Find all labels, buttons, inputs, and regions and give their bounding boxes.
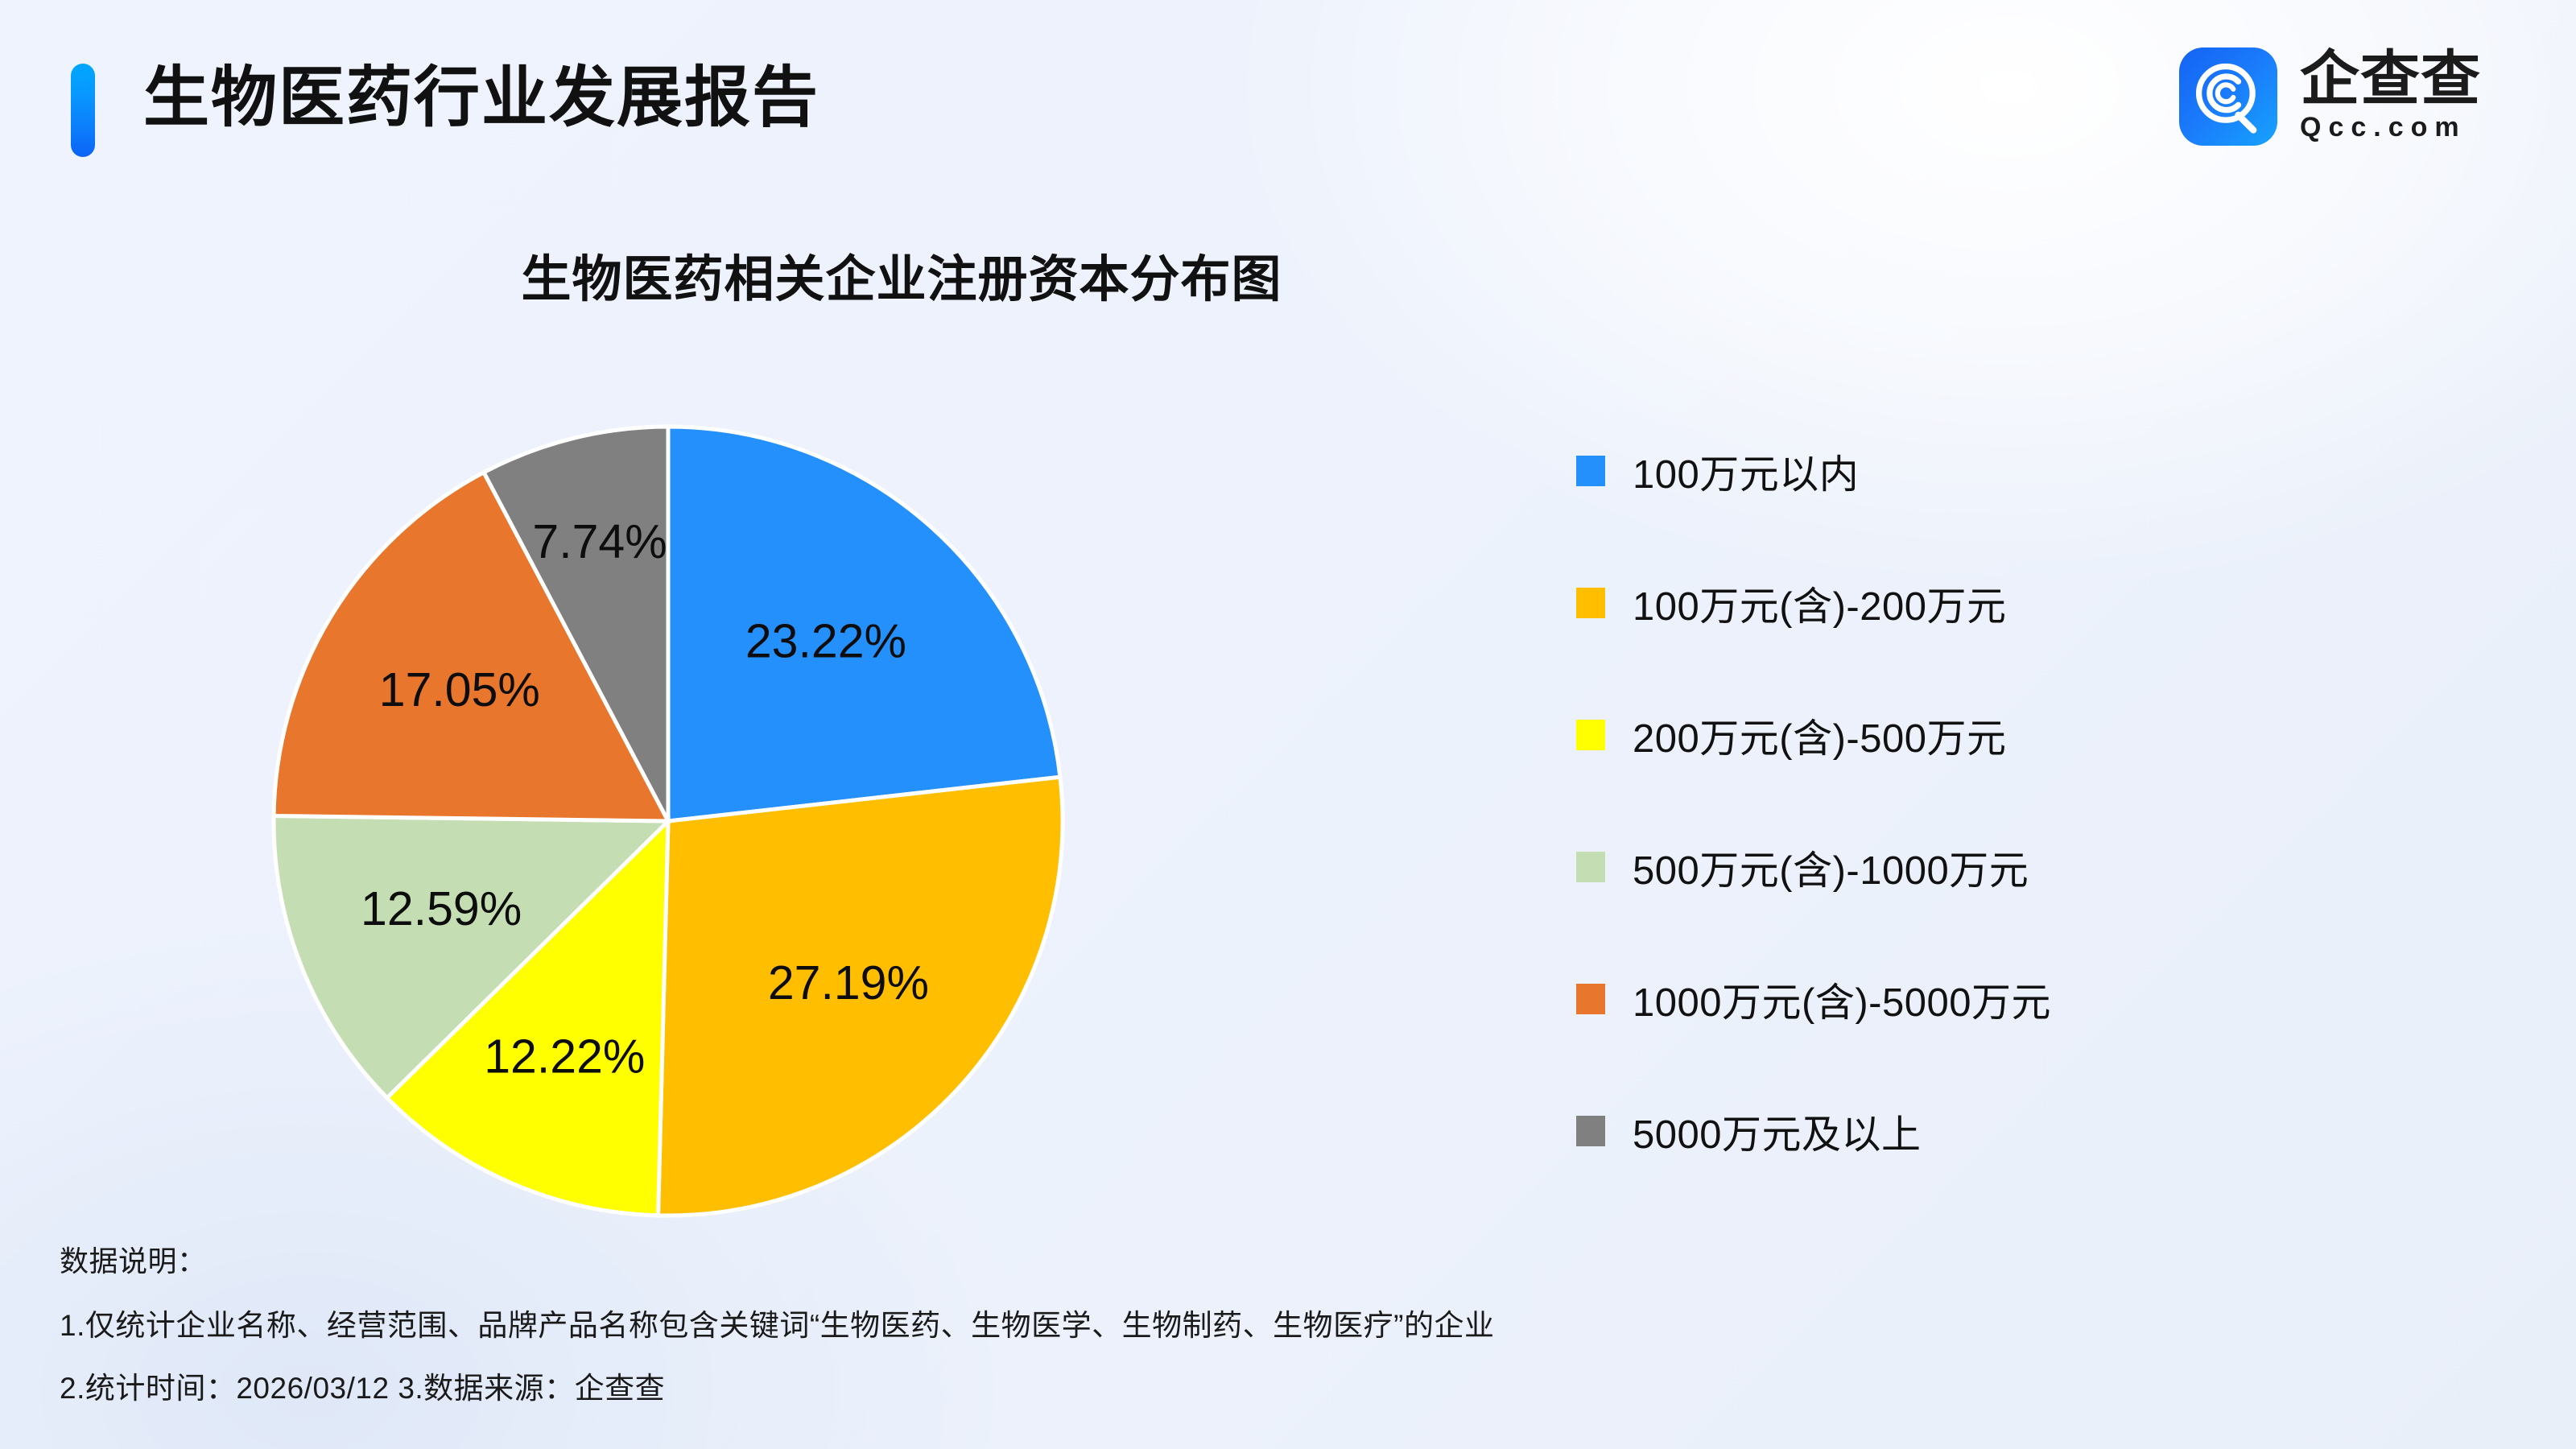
legend-item-label: 100万元(含)-200万元 [1633,575,2006,632]
chart-title: 生物医药相关企业注册资本分布图 [0,238,1803,311]
logo-name-cn: 企查查 [2300,50,2481,107]
legend-color-swatch [1576,984,1605,1014]
chart-legend: 100万元以内100万元(含)-200万元200万元(含)-500万元500万元… [1576,438,2381,1230]
legend-color-swatch [1576,852,1605,882]
note-line-2: 2.统计时间：2026/03/12 3.数据来源：企查查 [60,1364,2153,1407]
pie-slice-label: 7.74% [532,515,667,568]
logo-wordmark: 企查查 Qcc.com [2300,50,2481,143]
header: 生物医药行业发展报告 企查查 Qcc.com [0,0,2576,185]
legend-color-swatch [1576,1116,1605,1146]
infographic-page: 生物医药行业发展报告 企查查 Qcc.com 生物医药相关企业注册资本分布图 2… [0,0,2576,1449]
logo-name-en: Qcc.com [2300,112,2481,143]
notes-heading: 数据说明： [60,1238,2153,1280]
pie-slice-label: 12.22% [484,1030,645,1083]
legend-item[interactable]: 100万元(含)-200万元 [1576,570,2381,636]
legend-item[interactable]: 5000万元及以上 [1576,1098,2381,1164]
data-notes: 数据说明： 1.仅统计企业名称、经营范围、品牌产品名称包含关键词“生物医药、生物… [60,1238,2153,1407]
legend-color-swatch [1576,588,1605,618]
pie-slice-label: 23.22% [745,614,906,667]
pie-slice-label: 27.19% [768,956,929,1009]
legend-item-label: 1000万元(含)-5000万元 [1633,971,2051,1028]
legend-item[interactable]: 100万元以内 [1576,438,2381,504]
legend-item-label: 100万元以内 [1633,443,1859,500]
legend-item-label: 200万元(含)-500万元 [1633,707,2006,764]
legend-item[interactable]: 200万元(含)-500万元 [1576,702,2381,768]
pie-chart: 23.22%27.19%12.22%12.59%17.05%7.74% [242,394,1095,1248]
title-accent-bar [71,64,95,157]
pie-slice-label: 17.05% [379,663,540,716]
note-line-1: 1.仅统计企业名称、经营范围、品牌产品名称包含关键词“生物医药、生物医学、生物制… [60,1301,2153,1344]
page-title: 生物医药行业发展报告 [143,43,819,139]
qcc-target-q-icon [2179,47,2277,146]
legend-item[interactable]: 500万元(含)-1000万元 [1576,834,2381,900]
legend-color-swatch [1576,456,1605,486]
pie-slice-label: 12.59% [361,882,522,935]
pie-chart-svg: 23.22%27.19%12.22%12.59%17.05%7.74% [242,394,1095,1248]
qcc-logo: 企查查 Qcc.com [2179,45,2481,148]
legend-color-swatch [1576,720,1605,750]
legend-item-label: 500万元(含)-1000万元 [1633,839,2029,896]
legend-item[interactable]: 1000万元(含)-5000万元 [1576,966,2381,1032]
legend-item-label: 5000万元及以上 [1633,1103,1922,1160]
